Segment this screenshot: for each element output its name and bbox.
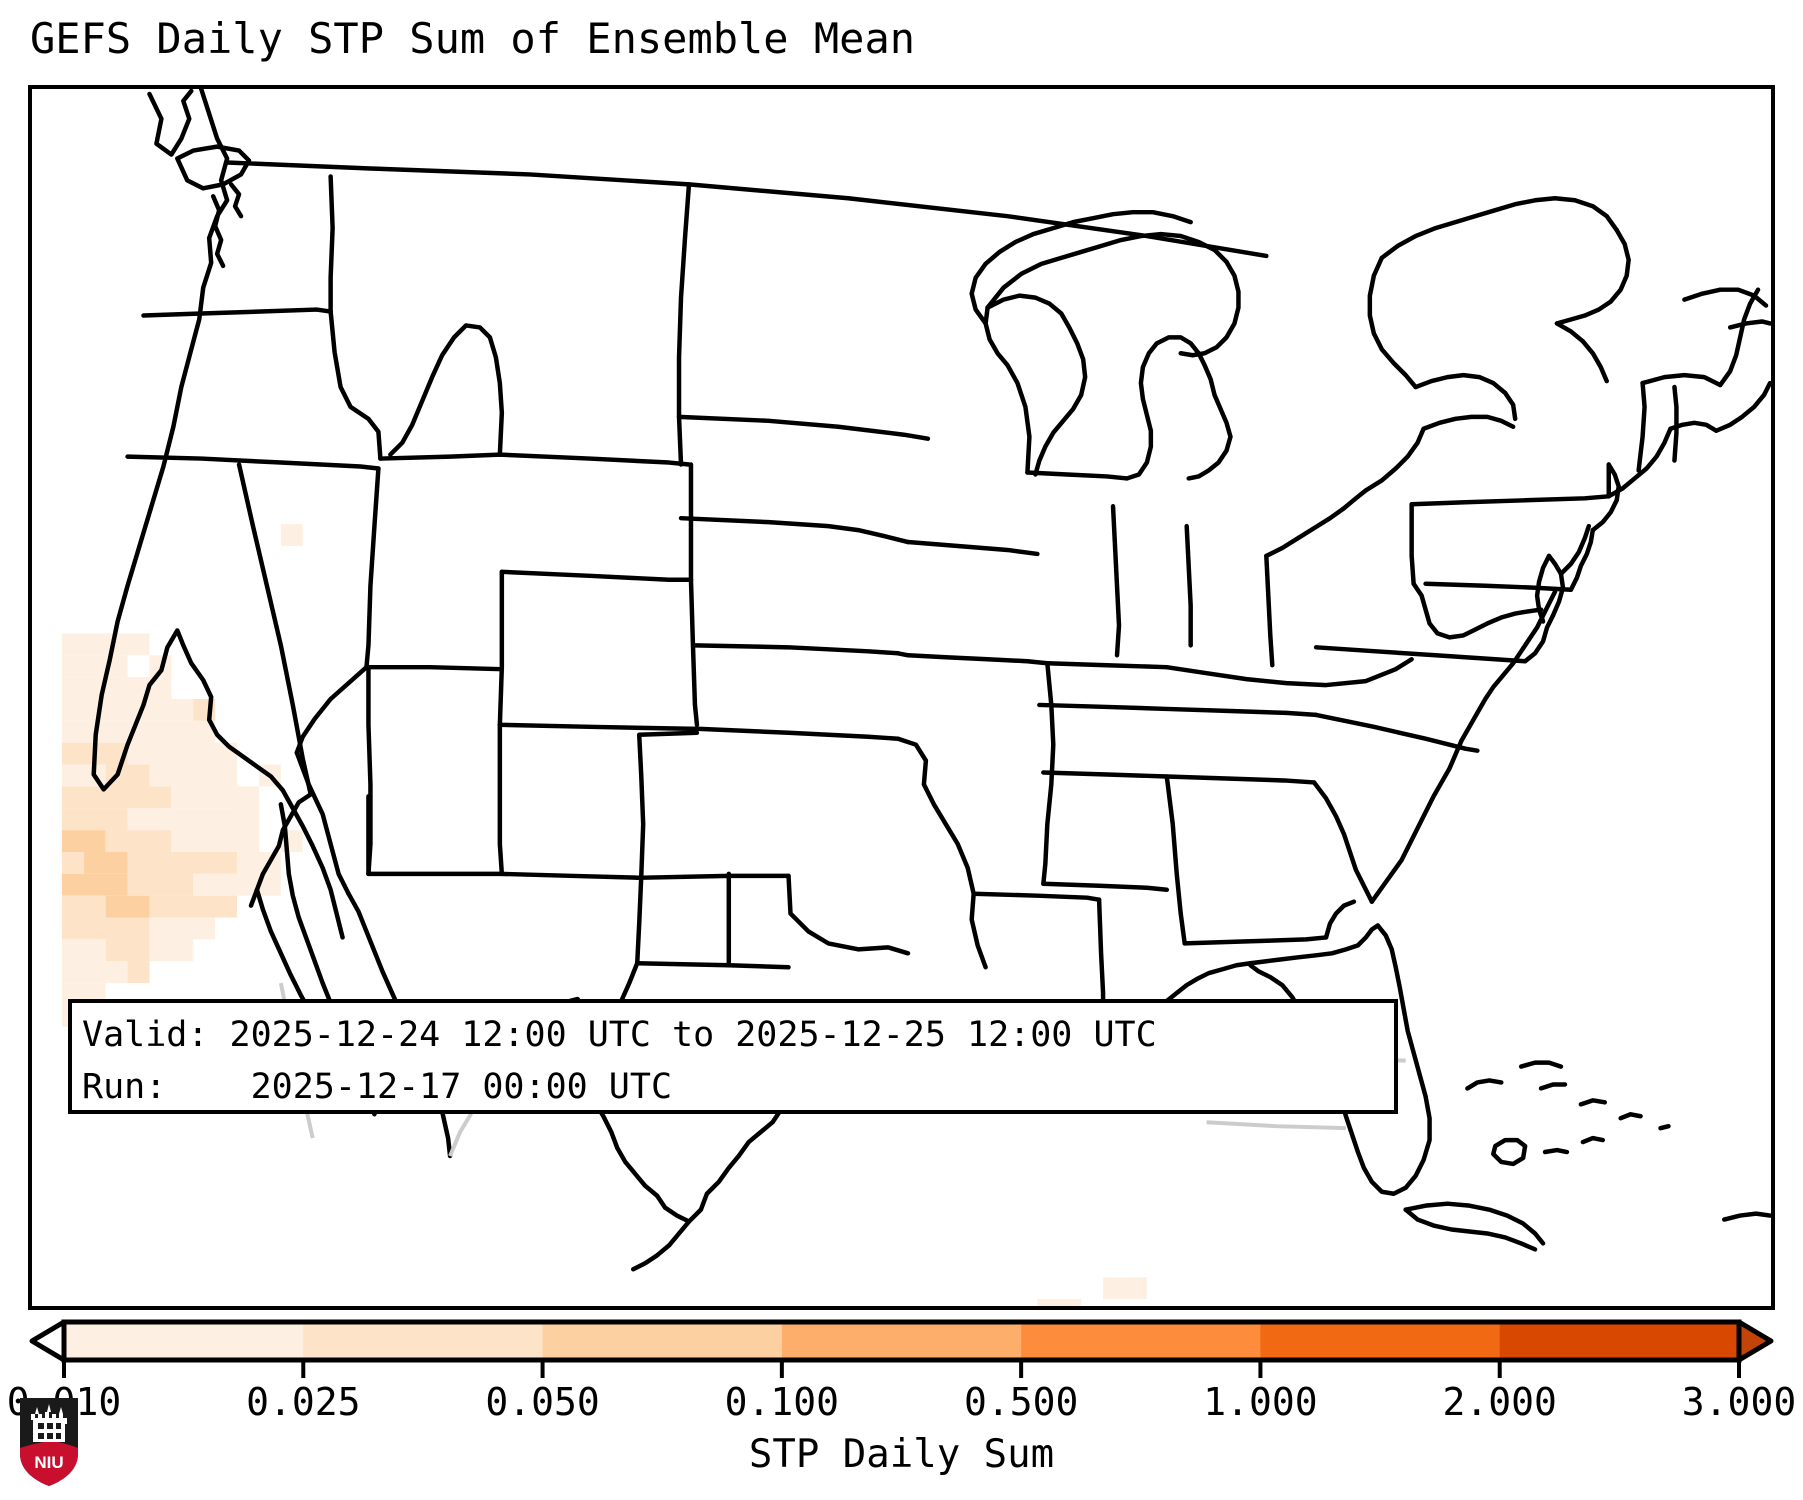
colorbar-extend-over xyxy=(1739,1322,1771,1360)
map-plot-area: Valid: 2025-12-24 12:00 UTC to 2025-12-2… xyxy=(28,85,1775,1310)
colorbar-tick-label: 0.050 xyxy=(485,1380,599,1424)
colorbar-extend-under xyxy=(32,1322,64,1360)
map-geography xyxy=(32,89,1771,1306)
run-time-line: Run: 2025-12-17 00:00 UTC xyxy=(82,1061,1394,1113)
colorbar-tick-label: 3.000 xyxy=(1682,1380,1796,1424)
colorbar-band xyxy=(303,1322,543,1360)
colorbar-tick-label: 2.000 xyxy=(1443,1380,1557,1424)
colorbar-tick-label: 0.500 xyxy=(964,1380,1078,1424)
colorbar-tick-label: 0.100 xyxy=(725,1380,839,1424)
colorbar-band xyxy=(782,1322,1022,1360)
colorbar-tick-labels: 0.0100.0250.0500.1000.5001.0002.0003.000 xyxy=(0,1380,1803,1430)
colorbar-band xyxy=(64,1322,304,1360)
colorbar-band xyxy=(1021,1322,1261,1360)
valid-time-line: Valid: 2025-12-24 12:00 UTC to 2025-12-2… xyxy=(82,1009,1394,1061)
page-title: GEFS Daily STP Sum of Ensemble Mean xyxy=(30,14,915,63)
colorbar-svg xyxy=(28,1318,1775,1380)
colorbar-band xyxy=(1260,1322,1500,1360)
forecast-info-box: Valid: 2025-12-24 12:00 UTC to 2025-12-2… xyxy=(68,999,1398,1114)
colorbar-tick-label: 1.000 xyxy=(1203,1380,1317,1424)
colorbar-band xyxy=(543,1322,783,1360)
colorbar[interactable] xyxy=(28,1318,1775,1380)
colorbar-axis-label: STP Daily Sum xyxy=(0,1432,1803,1477)
colorbar-tick-label: 0.025 xyxy=(246,1380,360,1424)
niu-logo-text: NIU xyxy=(34,1453,63,1472)
niu-logo: NIU xyxy=(18,1396,80,1488)
colorbar-band xyxy=(1500,1322,1740,1360)
